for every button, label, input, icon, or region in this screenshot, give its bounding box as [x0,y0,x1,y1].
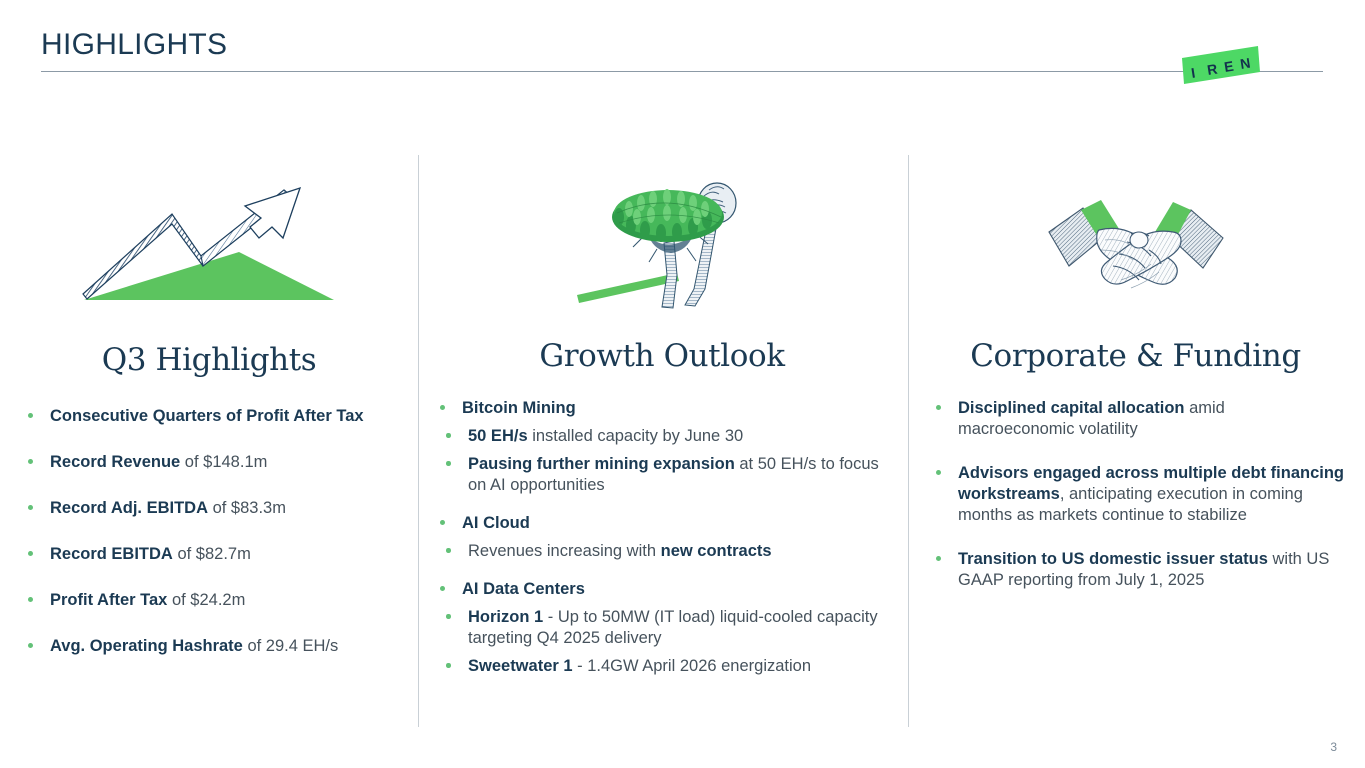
bullet-emphasis: AI Data Centers [462,580,585,598]
bullet-item: Bitcoin Mining [430,398,894,419]
column-growth-outlook: Growth Outlook Bitcoin Mining50 EH/s ins… [418,150,908,730]
column-corporate-funding: Corporate & Funding Disciplined capital … [908,150,1365,730]
bullet-dot-icon [440,405,445,410]
column-heading-corporate: Corporate & Funding [926,338,1345,374]
bullet-emphasis: AI Cloud [462,514,530,532]
handshake-illustration [926,150,1345,310]
bullet-dot-icon [936,556,941,561]
bullet-item: Sweetwater 1 - 1.4GW April 2026 energiza… [430,656,894,677]
column-q3-highlights: Q3 Highlights Consecutive Quarters of Pr… [0,150,418,730]
bullet-dot-icon [28,413,33,418]
bullet-list-growth: Bitcoin Mining50 EH/s installed capacity… [430,398,894,677]
bullet-dot-icon [446,433,451,438]
growth-arrow-icon [79,180,339,310]
bullet-dot-icon [446,614,451,619]
handshake-icon [1031,180,1241,310]
bullet-dot-icon [28,459,33,464]
bullet-item: Horizon 1 - Up to 50MW (IT load) liquid-… [430,607,894,649]
bullet-text: installed capacity by June 30 [528,427,744,445]
bullet-dot-icon [28,551,33,556]
bullet-dot-icon [936,405,941,410]
bullet-dot-icon [28,643,33,648]
content-columns: Q3 Highlights Consecutive Quarters of Pr… [0,150,1365,730]
flowering-plant-illustration [430,150,894,310]
flowering-plant-icon [567,165,757,310]
bullet-item: Record Adj. EBITDA of $83.3m [18,498,400,519]
bullet-text: of $24.2m [167,591,245,609]
bullet-text: Revenues increasing with [468,542,661,560]
column-heading-growth: Growth Outlook [430,338,894,374]
bullet-item: Transition to US domestic issuer status … [926,549,1345,591]
bullet-item: Consecutive Quarters of Profit After Tax [18,406,400,427]
column-heading-q3: Q3 Highlights [18,342,400,378]
bullet-dot-icon [440,586,445,591]
bullet-emphasis: Profit After Tax [50,591,167,609]
bullet-emphasis: Record Adj. EBITDA [50,499,208,517]
page-title: HIGHLIGHTS [41,28,227,62]
bullet-list-corporate: Disciplined capital allocation amid macr… [926,398,1345,591]
bullet-item: Record Revenue of $148.1m [18,452,400,473]
page-number: 3 [1330,740,1337,754]
bullet-list-q3: Consecutive Quarters of Profit After Tax… [18,406,400,657]
bullet-text: - 1.4GW April 2026 energization [573,657,811,675]
bullet-item: Disciplined capital allocation amid macr… [926,398,1345,440]
slide-header: HIGHLIGHTS I R E N [0,0,1365,100]
bullet-dot-icon [28,597,33,602]
bullet-item: Revenues increasing with new contracts [430,541,894,562]
bullet-dot-icon [28,505,33,510]
bullet-emphasis: Bitcoin Mining [462,399,576,417]
growth-arrow-illustration [18,150,400,310]
bullet-text: of 29.4 EH/s [243,637,338,655]
bullet-item: Record EBITDA of $82.7m [18,544,400,565]
bullet-emphasis: Record EBITDA [50,545,173,563]
bullet-item: 50 EH/s installed capacity by June 30 [430,426,894,447]
bullet-item: AI Data Centers [430,579,894,600]
bullet-item: AI Cloud [430,513,894,534]
bullet-item: Profit After Tax of $24.2m [18,590,400,611]
header-divider-rule [41,71,1323,72]
bullet-text: of $148.1m [180,453,267,471]
bullet-emphasis: Avg. Operating Hashrate [50,637,243,655]
bullet-dot-icon [440,520,445,525]
bullet-dot-icon [936,470,941,475]
bullet-emphasis-tail: new contracts [661,542,772,560]
bullet-emphasis: Consecutive Quarters of Profit After Tax [50,407,364,425]
bullet-emphasis: Horizon 1 [468,608,543,626]
bullet-dot-icon [446,548,451,553]
bullet-dot-icon [446,663,451,668]
iren-logo: I R E N [1178,46,1264,84]
bullet-emphasis: Transition to US domestic issuer status [958,550,1268,568]
bullet-text: of $83.3m [208,499,286,517]
bullet-dot-icon [446,461,451,466]
bullet-emphasis: Sweetwater 1 [468,657,573,675]
bullet-emphasis: Disciplined capital allocation [958,399,1184,417]
bullet-item: Pausing further mining expansion at 50 E… [430,454,894,496]
bullet-item: Advisors engaged across multiple debt fi… [926,463,1345,526]
bullet-item: Avg. Operating Hashrate of 29.4 EH/s [18,636,400,657]
bullet-emphasis: 50 EH/s [468,427,528,445]
bullet-emphasis: Pausing further mining expansion [468,455,735,473]
bullet-emphasis: Record Revenue [50,453,180,471]
bullet-text: of $82.7m [173,545,251,563]
